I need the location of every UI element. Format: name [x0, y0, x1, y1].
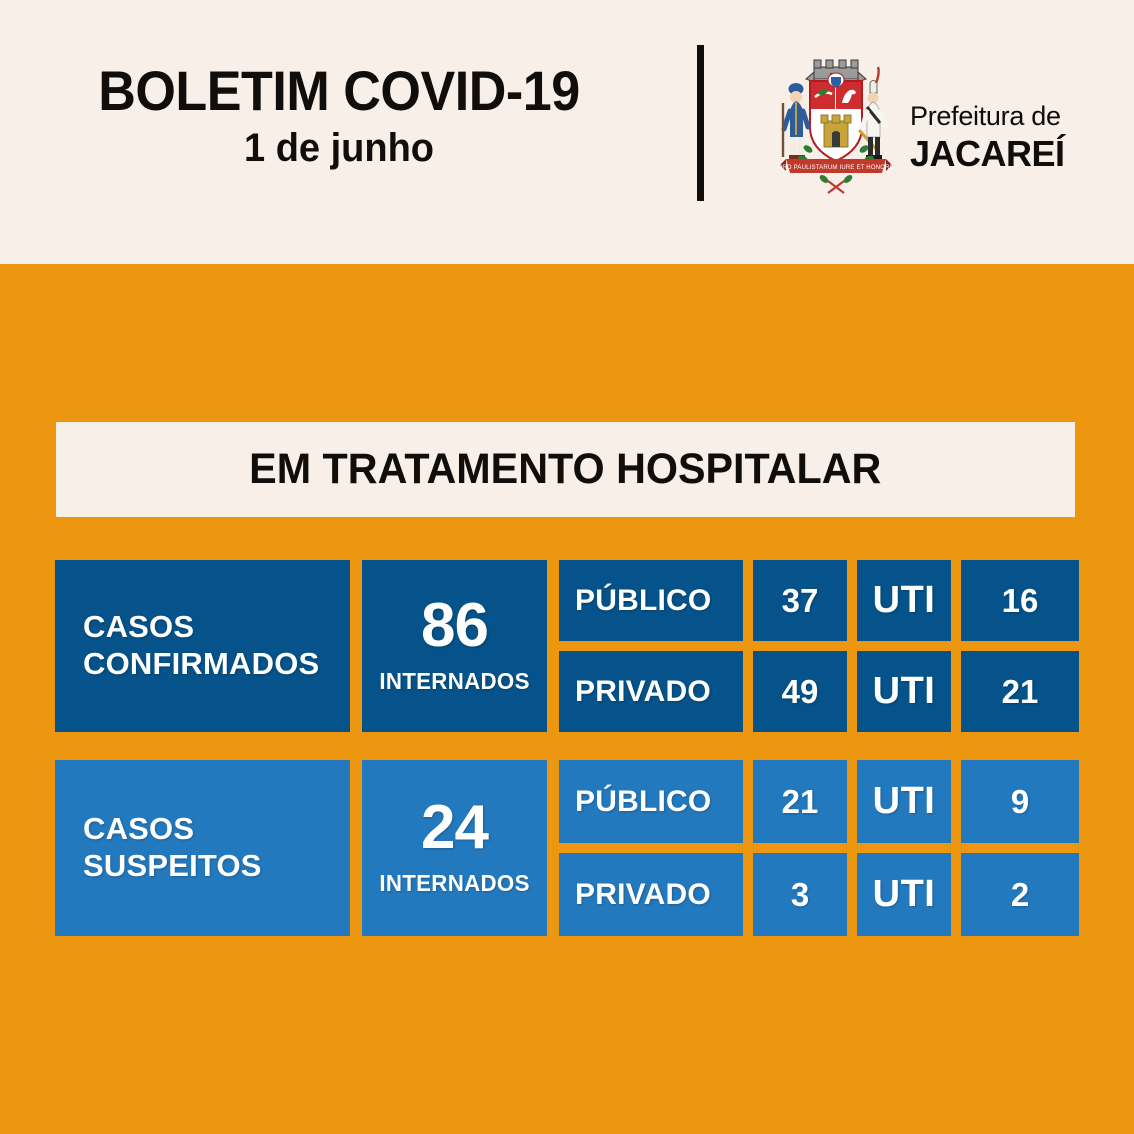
- total-label-confirmed: INTERNADOS: [379, 668, 529, 695]
- sector-value-confirmed-privado: 49: [753, 651, 847, 732]
- category-label-line1: CASOS: [83, 811, 262, 848]
- brand-text: Prefeitura de JACAREÍ: [910, 103, 1075, 172]
- subgrid-suspected: PÚBLICO 21 UTI 9 PRIVADO 3 UTI 2: [559, 760, 1079, 936]
- hospital-treatment-table: CASOS CONFIRMADOS 86 INTERNADOS PÚBLICO …: [55, 560, 1079, 936]
- subrow-confirmed-privado: PRIVADO 49 UTI 21: [559, 651, 1079, 732]
- uti-label-confirmed-publico: UTI: [857, 560, 951, 641]
- table-row-suspected: CASOS SUSPEITOS 24 INTERNADOS PÚBLICO 21…: [55, 760, 1079, 936]
- uti-value-confirmed-privado: 21: [961, 651, 1079, 732]
- brand-prefeitura-label: Prefeitura de: [910, 103, 1075, 130]
- sector-value-suspected-publico: 21: [753, 760, 847, 843]
- sector-value-suspected-privado: 3: [753, 853, 847, 936]
- category-label-line1: CASOS: [83, 609, 319, 646]
- sector-label-suspected-publico: PÚBLICO: [559, 760, 743, 843]
- coat-of-arms-icon: PRO PAULISTARUM IURE ET HONORE: [772, 45, 900, 197]
- sector-label-confirmed-privado: PRIVADO: [559, 651, 743, 732]
- category-label-line2: CONFIRMADOS: [83, 646, 319, 683]
- brand-city-name: JACAREÍ: [910, 136, 1075, 172]
- total-number-suspected: 24: [421, 799, 488, 858]
- header-vertical-divider: [697, 45, 704, 201]
- brand-block: PRO PAULISTARUM IURE ET HONORE Prefeitur…: [772, 45, 1072, 205]
- svg-text:PRO PAULISTARUM IURE ET HONORE: PRO PAULISTARUM IURE ET HONORE: [778, 165, 894, 171]
- category-cell-confirmed: CASOS CONFIRMADOS: [55, 560, 350, 732]
- subgrid-confirmed: PÚBLICO 37 UTI 16 PRIVADO 49 UTI 21: [559, 560, 1079, 732]
- uti-value-suspected-publico: 9: [961, 760, 1079, 843]
- subrow-confirmed-publico: PÚBLICO 37 UTI 16: [559, 560, 1079, 641]
- table-row-confirmed: CASOS CONFIRMADOS 86 INTERNADOS PÚBLICO …: [55, 560, 1079, 732]
- category-label-line2: SUSPEITOS: [83, 848, 262, 885]
- subrow-suspected-privado: PRIVADO 3 UTI 2: [559, 853, 1079, 936]
- uti-label-suspected-publico: UTI: [857, 760, 951, 843]
- section-title: EM TRATAMENTO HOSPITALAR: [249, 445, 881, 494]
- page-date: 1 de junho: [17, 123, 661, 173]
- page-title: BOLETIM COVID-19: [24, 62, 655, 119]
- sector-value-confirmed-publico: 37: [753, 560, 847, 641]
- total-cell-suspected: 24 INTERNADOS: [362, 760, 547, 936]
- uti-label-confirmed-privado: UTI: [857, 651, 951, 732]
- uti-value-confirmed-publico: 16: [961, 560, 1079, 641]
- covid-bulletin-poster: BOLETIM COVID-19 1 de junho: [0, 0, 1134, 1134]
- sector-label-confirmed-publico: PÚBLICO: [559, 560, 743, 641]
- total-label-suspected: INTERNADOS: [379, 870, 529, 897]
- section-banner: EM TRATAMENTO HOSPITALAR: [56, 422, 1075, 517]
- sector-label-suspected-privado: PRIVADO: [559, 853, 743, 936]
- total-cell-confirmed: 86 INTERNADOS: [362, 560, 547, 732]
- total-number-confirmed: 86: [421, 597, 488, 656]
- category-cell-suspected: CASOS SUSPEITOS: [55, 760, 350, 936]
- uti-value-suspected-privado: 2: [961, 853, 1079, 936]
- header-band: BOLETIM COVID-19 1 de junho: [0, 0, 1134, 264]
- subrow-suspected-publico: PÚBLICO 21 UTI 9: [559, 760, 1079, 843]
- uti-label-suspected-privado: UTI: [857, 853, 951, 936]
- header-title-block: BOLETIM COVID-19 1 de junho: [0, 62, 678, 173]
